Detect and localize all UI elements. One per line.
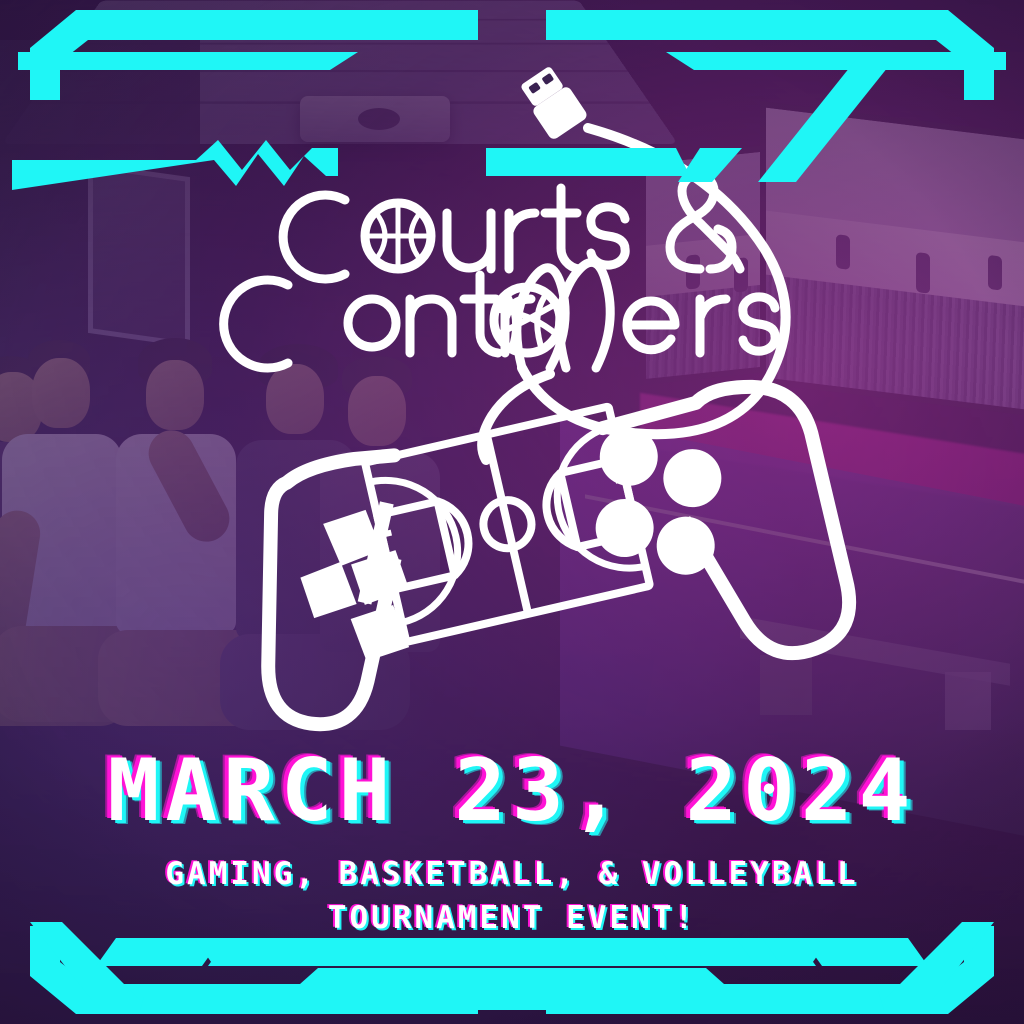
subtitle-line-1: GAMING, BASKETBALL, & VOLLEYBALL xyxy=(0,852,1024,896)
event-date-text: MARCH 23, 2024 xyxy=(108,748,917,834)
event-date: MARCH 23, 2024 xyxy=(0,748,1024,834)
subtitle-line-2: TOURNAMENT EVENT! xyxy=(0,896,1024,940)
poster-canvas: MARCH 23, 2024 GAMING, BASKETBALL, & VOL… xyxy=(0,0,1024,1024)
event-subtitle: GAMING, BASKETBALL, & VOLLEYBALL TOURNAM… xyxy=(0,852,1024,940)
